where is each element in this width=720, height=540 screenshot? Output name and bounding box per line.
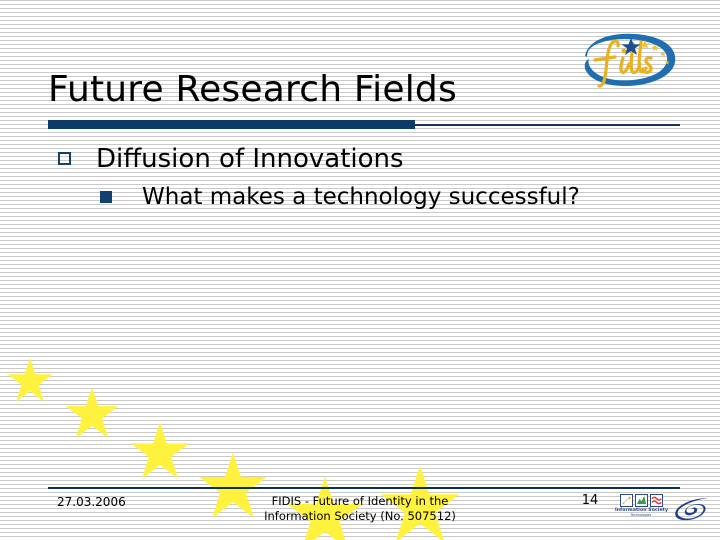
filled-square-bullet-icon xyxy=(100,191,112,203)
footer-project-line1: FIDIS - Future of Identity in the xyxy=(210,494,510,509)
footer-divider xyxy=(48,487,680,489)
bullet-level1-text: Diffusion of Innovations xyxy=(96,144,404,174)
title-rule-thick xyxy=(48,120,415,129)
bullet-level2-text: What makes a technology successful? xyxy=(142,184,580,210)
footer-date: 27.03.2006 xyxy=(57,494,126,510)
page-number: 14 xyxy=(575,492,605,509)
star-icon xyxy=(129,421,191,483)
slide: Future Research Fields xyxy=(0,0,720,540)
bullet-list: Diffusion of Innovations What makes a te… xyxy=(52,142,672,212)
bullet-level1: Diffusion of Innovations xyxy=(52,142,672,176)
footer-project-line2: Information Society (No. 507512) xyxy=(210,509,510,524)
bullet-level2: What makes a technology successful? xyxy=(52,182,672,212)
fp6-logo xyxy=(672,496,712,522)
information-society-technologies-logo: Information Society Technologies xyxy=(615,494,667,524)
arrow-up-icon xyxy=(620,494,633,507)
ist-logo-caption-sub: Technologies xyxy=(615,513,667,517)
star-icon xyxy=(64,386,120,442)
slide-title: Future Research Fields xyxy=(48,68,457,112)
bar-chart-icon xyxy=(635,494,648,507)
star-icon xyxy=(6,357,54,405)
hollow-square-bullet-icon xyxy=(58,152,71,165)
footer-project-text: FIDIS - Future of Identity in the Inform… xyxy=(210,494,510,524)
ist-logo-squares xyxy=(615,494,667,507)
wave-icon xyxy=(650,494,663,507)
fidis-logo xyxy=(575,24,683,96)
